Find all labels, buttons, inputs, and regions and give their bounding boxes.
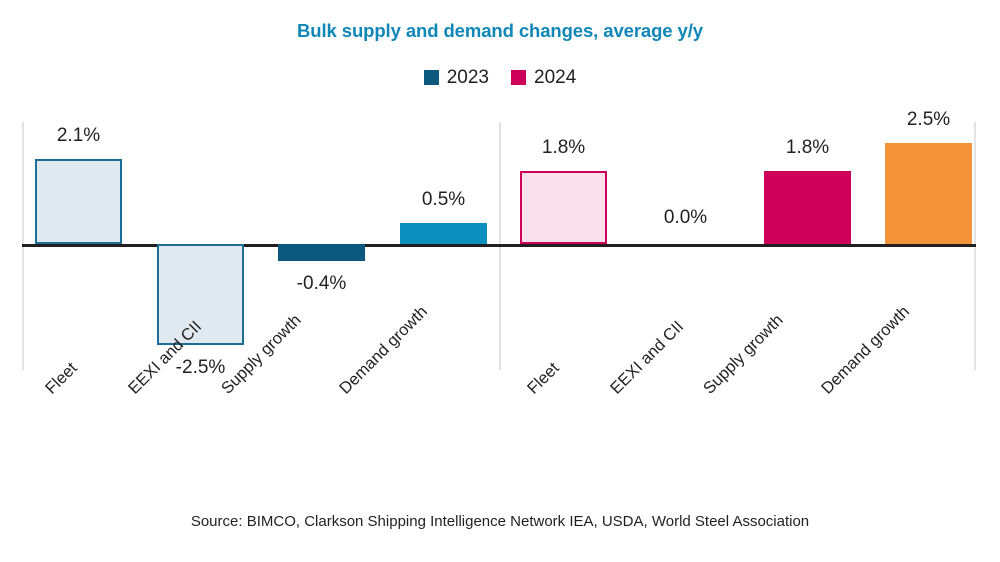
legend-label-2023: 2023: [447, 68, 489, 87]
value-label-2024-fleet: 1.8%: [520, 137, 607, 159]
bar-2024-supply-growth[interactable]: [764, 171, 851, 244]
chart-legend: 2023 2024: [0, 68, 1000, 87]
value-label-2024-supply-growth: 1.8%: [764, 137, 851, 159]
value-label-2023-demand-growth: 0.5%: [400, 189, 487, 211]
bar-2023-supply-growth[interactable]: [278, 244, 365, 261]
value-label-2023-supply-growth: -0.4%: [278, 273, 365, 295]
value-label-2024-demand-growth: 2.5%: [885, 109, 972, 131]
value-label-2023-fleet: 2.1%: [35, 125, 122, 147]
bar-2024-demand-growth[interactable]: [885, 143, 972, 244]
source-note: Source: BIMCO, Clarkson Shipping Intelli…: [0, 513, 1000, 530]
value-label-2024-eexi-and-cii: 0.0%: [642, 207, 729, 229]
bar-2023-demand-growth[interactable]: [400, 223, 487, 244]
bar-2023-fleet[interactable]: [35, 159, 122, 244]
bar-2024-fleet[interactable]: [520, 171, 607, 244]
plot-area: [22, 122, 976, 370]
legend-swatch-2024-icon: [511, 70, 526, 85]
legend-item-2023[interactable]: 2023: [424, 68, 489, 87]
legend-swatch-2023-icon: [424, 70, 439, 85]
legend-item-2024[interactable]: 2024: [511, 68, 576, 87]
legend-label-2024: 2024: [534, 68, 576, 87]
bulk-supply-demand-chart: Bulk supply and demand changes, average …: [0, 0, 1000, 562]
chart-title: Bulk supply and demand changes, average …: [0, 20, 1000, 42]
